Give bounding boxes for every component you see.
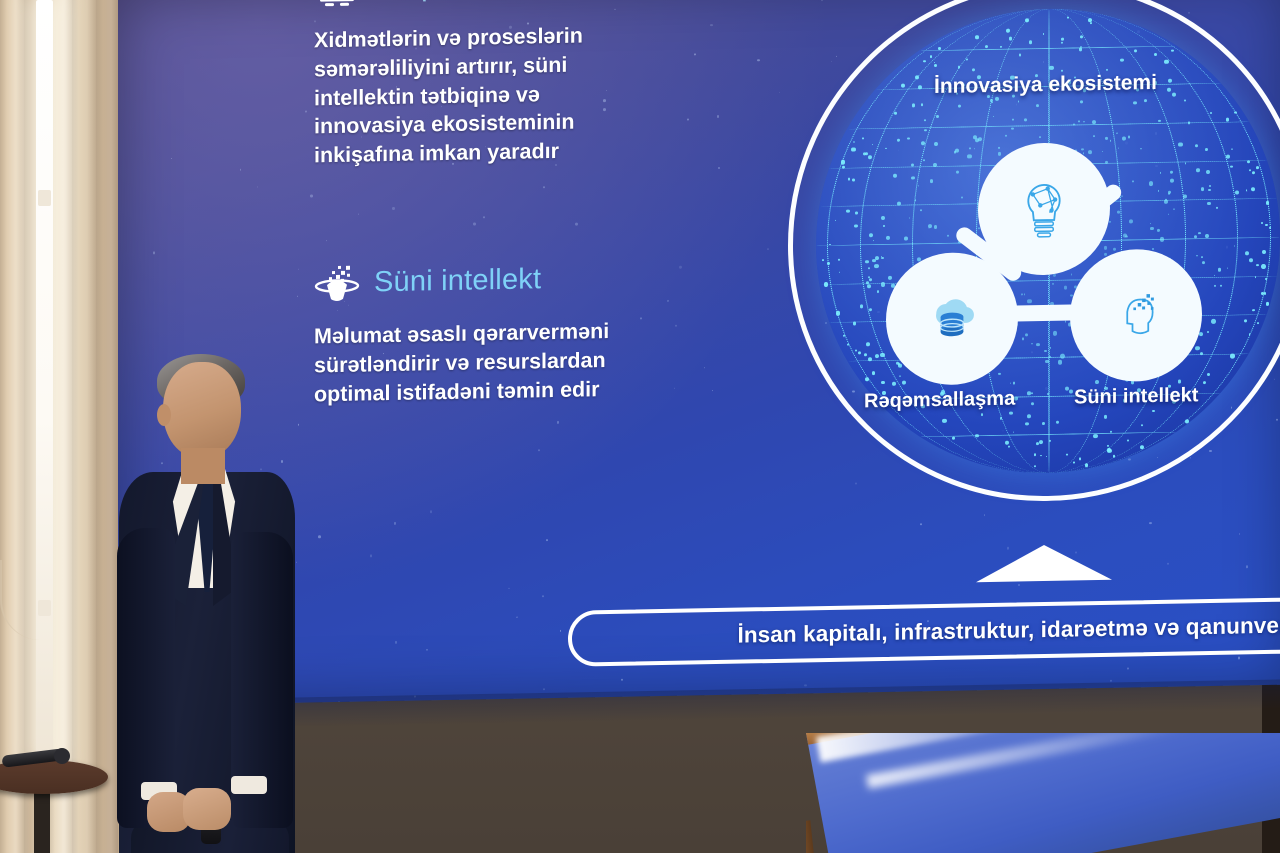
- presentation-photo-scene: Rəqəmsallaşma Xidmətlərin və proseslərin…: [0, 0, 1280, 853]
- neck: [181, 448, 225, 484]
- slide-block-title: Süni intellekt: [374, 264, 541, 300]
- curtain-folds: [0, 0, 118, 853]
- ear: [157, 404, 171, 426]
- side-table-leg: [34, 786, 50, 853]
- slide-left-column: Rəqəmsallaşma Xidmətlərin və proseslərin…: [314, 0, 674, 501]
- slide-block-title: Rəqəmsallaşma: [374, 0, 585, 4]
- foundation-banner-text: İnsan kapitalı, infrastruktur, idarəetmə…: [677, 612, 1280, 650]
- label-innovation-ecosystem: İnnovasiya ekosistemi: [934, 71, 1157, 99]
- head-pixels-icon: [1101, 280, 1171, 351]
- light-strip: [36, 0, 53, 760]
- head: [163, 362, 241, 458]
- microphone-head: [54, 748, 70, 764]
- slide-block-digitalization: Rəqəmsallaşma Xidmətlərin və proseslərin…: [314, 0, 674, 170]
- slide-block-body: Məlumat əsaslı qərarverməni sürətləndiri…: [314, 316, 644, 408]
- database-server-icon: [314, 0, 360, 11]
- table-leg: [806, 820, 818, 853]
- cuff-right: [231, 776, 267, 794]
- label-artificial-intelligence: Süni intellekt: [1074, 384, 1198, 409]
- sphere-diagram: Kibertəhlükəsizlik İnnovasiya ekosistemi: [758, 0, 1280, 684]
- ai-brain-pixels-icon: [314, 261, 360, 308]
- hand-right: [183, 788, 231, 830]
- speaker: [105, 352, 305, 853]
- cloud-database-icon: [917, 283, 987, 354]
- foreground-table: [806, 733, 1280, 853]
- lightbulb-network-icon: [1007, 171, 1081, 246]
- label-digitalization: Rəqəmsallaşma: [864, 388, 1015, 414]
- slide-block-body: Xidmətlərin və proseslərin səmərəliliyin…: [314, 20, 644, 170]
- up-arrow-icon: [976, 544, 1112, 582]
- slide-block-ai: Süni intellekt Məlumat əsaslı qərarvermə…: [314, 256, 674, 409]
